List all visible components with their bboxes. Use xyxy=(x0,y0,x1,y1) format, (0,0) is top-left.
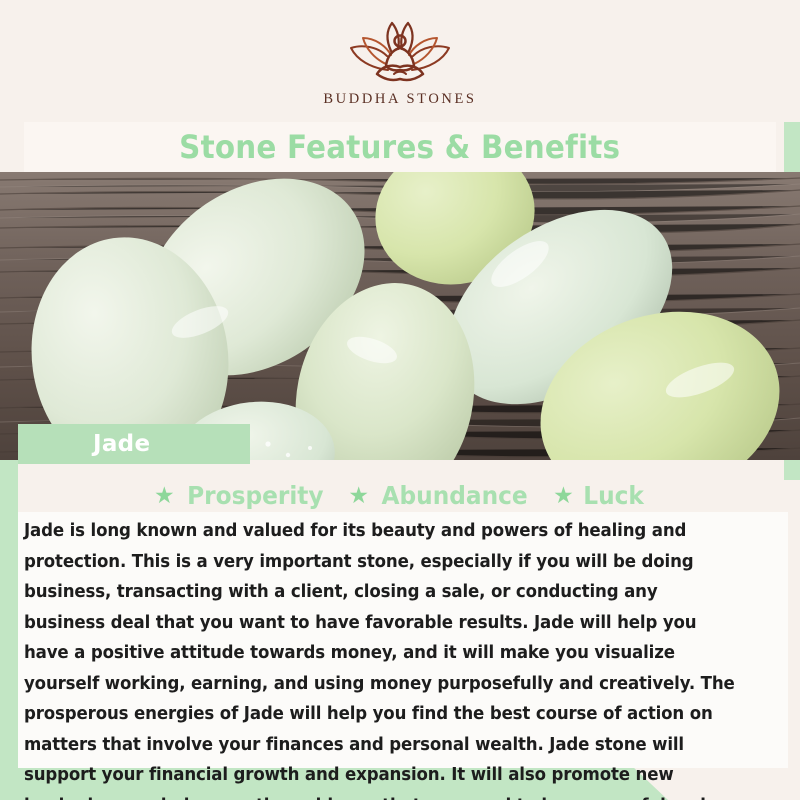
brand-header: BUDDHA STONES xyxy=(0,0,800,122)
benefit-item: ★ Prosperity xyxy=(154,481,328,510)
stone-photo xyxy=(0,172,800,460)
stone-photo-image xyxy=(0,172,800,460)
stone-name: Jade xyxy=(93,431,150,457)
page-title: Stone Features & Benefits xyxy=(179,128,620,166)
title-bar: Stone Features & Benefits xyxy=(24,122,776,172)
lotus-meditation-icon xyxy=(340,18,460,84)
benefits-row: ★ Prosperity ★ Abundance ★ Luck xyxy=(0,478,800,512)
benefit-item: ★ Abundance xyxy=(348,481,533,510)
star-icon: ★ xyxy=(154,484,175,507)
description-card: Jade is long known and valued for its be… xyxy=(18,512,788,768)
benefit-label: Prosperity xyxy=(187,481,323,510)
star-icon: ★ xyxy=(348,484,369,507)
description-text: Jade is long known and valued for its be… xyxy=(24,516,744,800)
poster-canvas: BUDDHA STONES Stone Features & Benefits xyxy=(0,0,800,800)
benefit-label: Abundance xyxy=(381,481,527,510)
stone-name-banner: Jade xyxy=(18,424,250,464)
brand-logo: BUDDHA STONES xyxy=(323,18,476,108)
benefit-item: ★ Luck xyxy=(553,481,646,510)
brand-name: BUDDHA STONES xyxy=(323,91,476,108)
star-icon: ★ xyxy=(553,484,574,507)
benefit-label: Luck xyxy=(583,481,644,510)
